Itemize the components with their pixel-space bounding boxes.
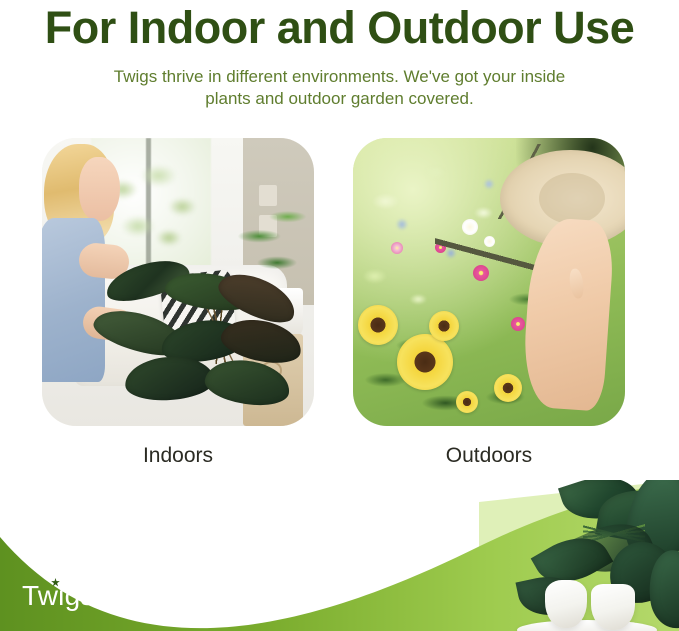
feature-card-outdoors: Outdoors — [353, 138, 625, 426]
indoor-rubber-plant — [113, 270, 314, 426]
star-icon — [51, 578, 60, 587]
banner-plant-illustration — [479, 480, 679, 631]
page-subtitle: Twigs thrive in different environments. … — [0, 66, 679, 110]
feature-card-row: Indoors — [0, 138, 679, 478]
pink-flower — [391, 242, 403, 254]
page-title: For Indoor and Outdoor Use — [0, 2, 679, 54]
outdoor-photo — [353, 138, 625, 426]
pedestal — [517, 620, 657, 631]
indoor-photo — [42, 138, 314, 426]
feature-card-indoors: Indoors — [42, 138, 314, 426]
caption-indoors: Indoors — [42, 443, 314, 469]
brand-banner: Twigs — [0, 480, 679, 631]
woman-face — [79, 157, 120, 221]
white-pot — [591, 584, 635, 630]
gardener-hand — [568, 268, 585, 300]
white-pot — [545, 580, 587, 628]
caption-outdoors: Outdoors — [353, 443, 625, 469]
